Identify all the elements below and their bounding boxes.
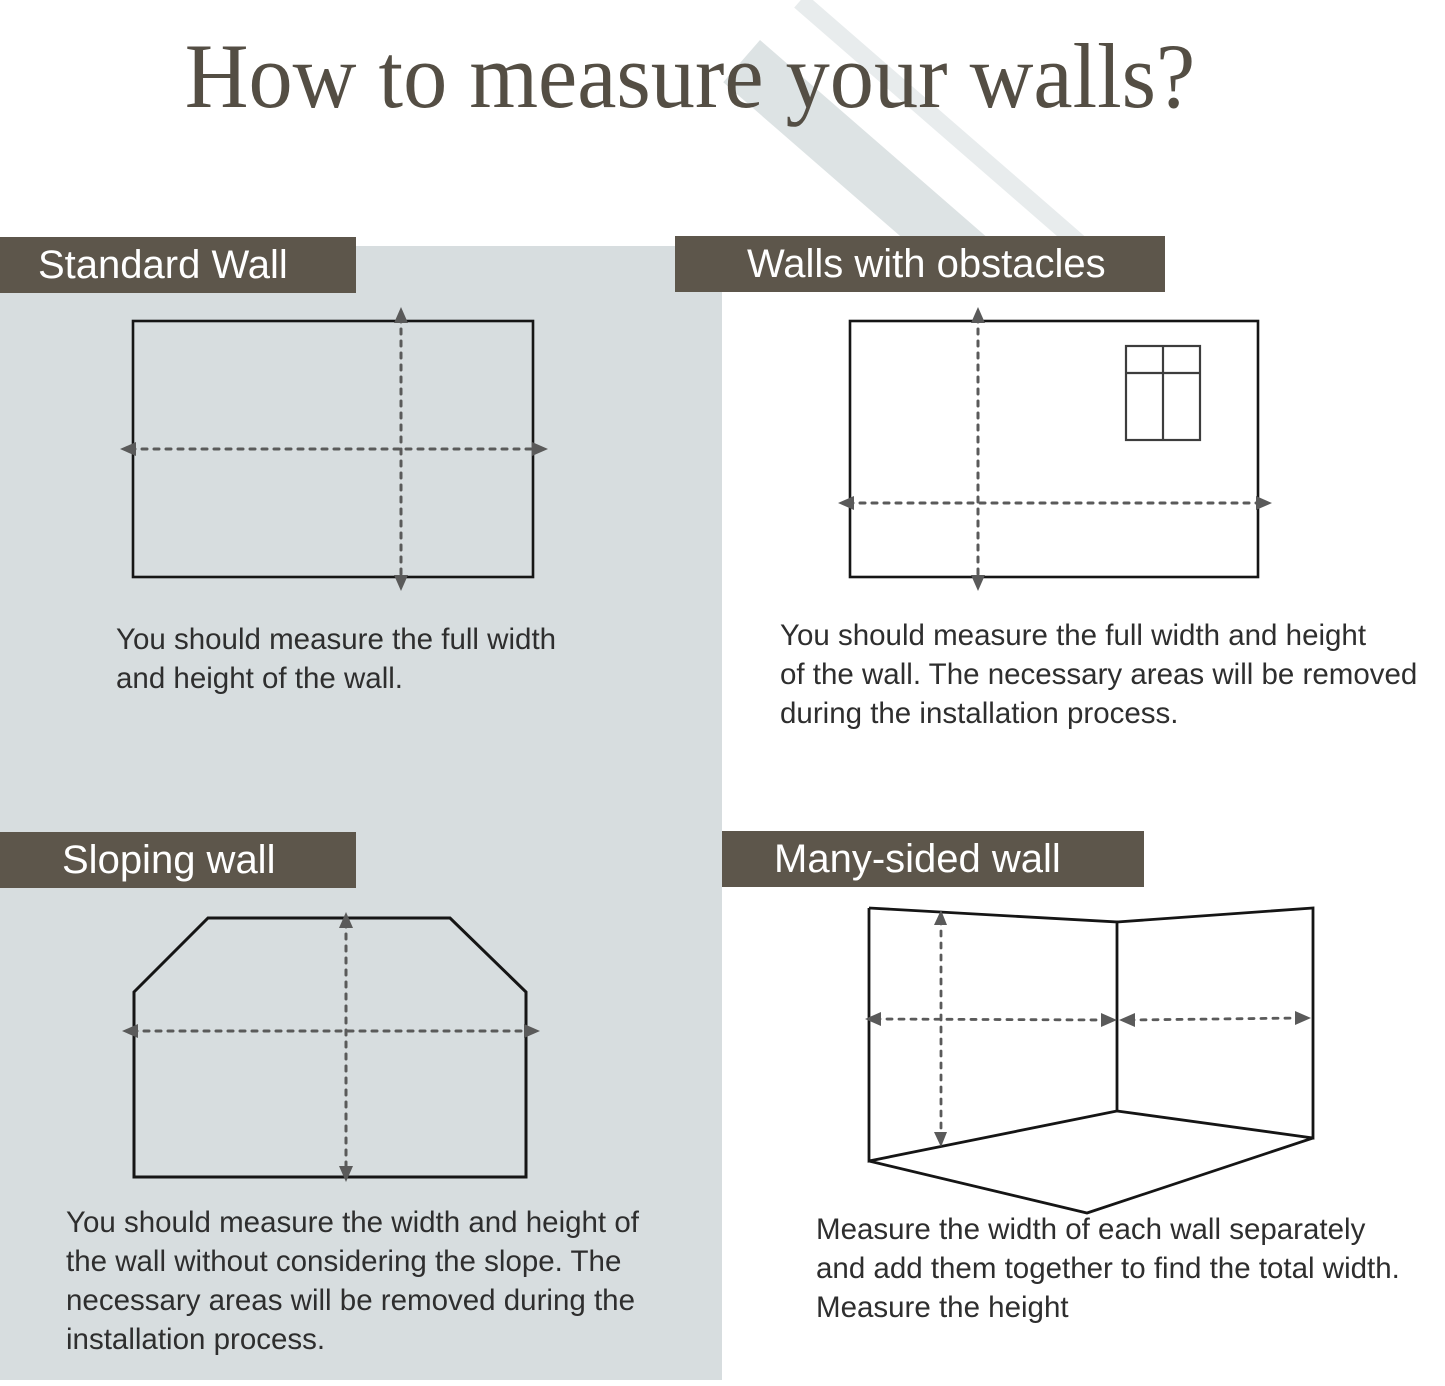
width-dimension-arrow: [838, 496, 1272, 510]
section-header-label: Standard Wall: [38, 237, 288, 293]
window-icon: [1126, 346, 1200, 440]
sloping-wall-diagram: [120, 900, 570, 1200]
height-dimension-arrow: [971, 307, 985, 591]
walls-with-obstacles-diagram: [838, 305, 1283, 595]
width-dimension-arrow: [122, 1024, 540, 1038]
caption-sloping-wall: You should measure the width and height …: [66, 1203, 666, 1359]
section-header-label: Walls with obstacles: [747, 236, 1106, 292]
section-header-label: Many-sided wall: [774, 831, 1061, 887]
width-dimension-arrow: [120, 442, 548, 456]
wall-outline: [850, 321, 1258, 577]
caption-walls-with-obstacles: You should measure the full width and he…: [780, 616, 1420, 733]
page-title: How to measure your walls?: [28, 30, 1353, 122]
right-wall-width-dimension-arrow: [1119, 1011, 1311, 1027]
section-header-many-sided-wall: Many-sided wall: [722, 831, 1144, 887]
left-wall-width-dimension-arrow: [865, 1012, 1117, 1027]
section-header-standard-wall: Standard Wall: [0, 237, 356, 293]
section-header-sloping-wall: Sloping wall: [0, 832, 356, 888]
wall-outline: [134, 918, 526, 1177]
caption-many-sided-wall: Measure the width of each wall separatel…: [816, 1210, 1426, 1327]
infographic-page: How to measure your walls? Standard Wall…: [0, 0, 1445, 1386]
section-header-label: Sloping wall: [62, 832, 275, 888]
height-dimension-arrow: [934, 910, 947, 1147]
corner-room-outline: [869, 908, 1313, 1213]
section-header-walls-with-obstacles: Walls with obstacles: [675, 236, 1165, 292]
standard-wall-diagram: [120, 305, 560, 595]
height-dimension-arrow: [339, 912, 353, 1182]
many-sided-wall-diagram: [845, 895, 1335, 1215]
caption-standard-wall: You should measure the full width and he…: [116, 620, 636, 698]
